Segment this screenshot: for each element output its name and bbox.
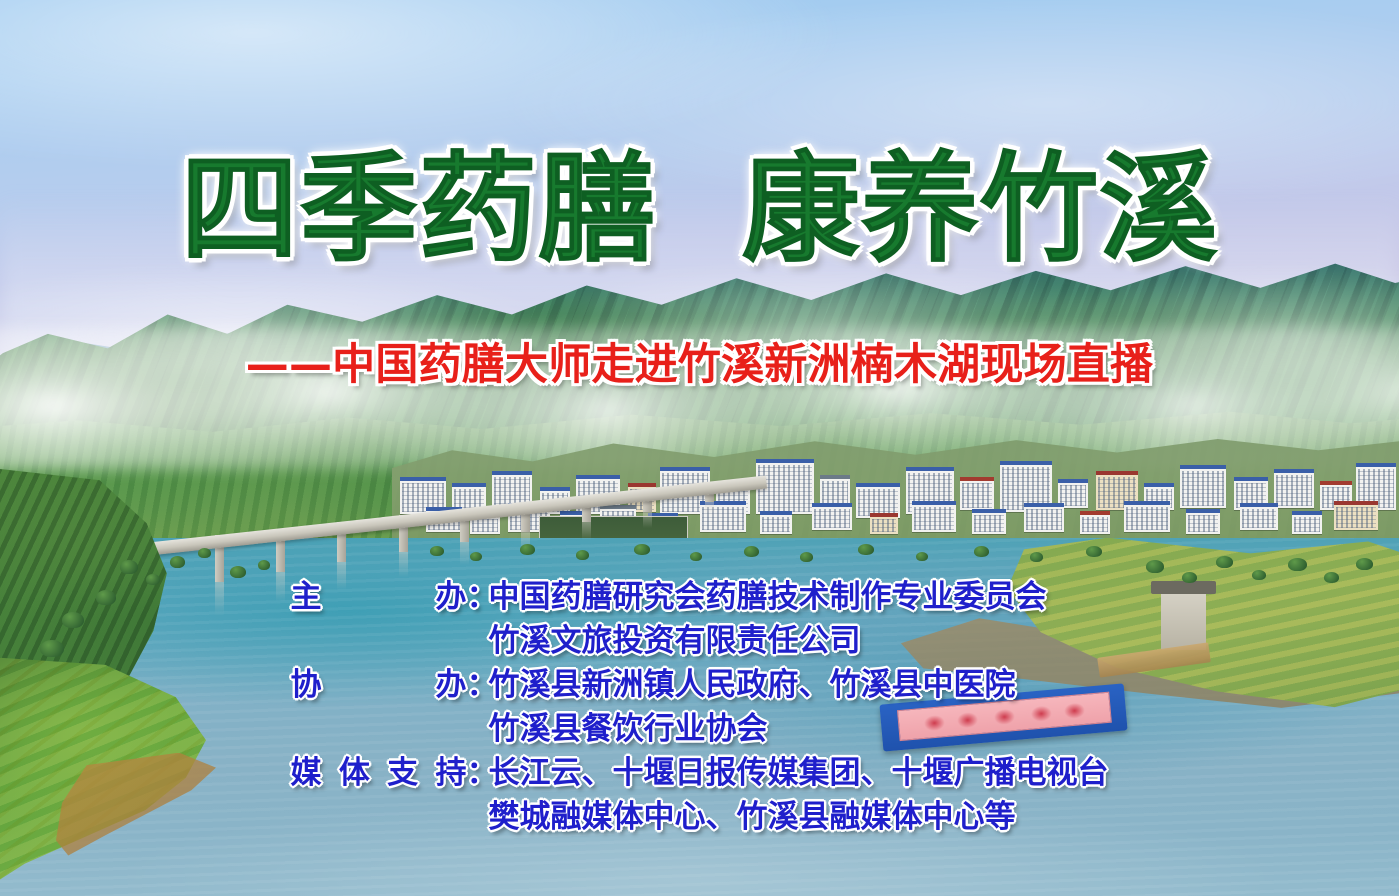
- credit-colon: ：: [467, 751, 489, 795]
- page-subtitle: ——中国药膳大师走进竹溪新洲楠木湖现场直播: [0, 330, 1399, 392]
- page-title: 四季药膳 康养竹溪: [0, 146, 1399, 273]
- credit-continuation: 竹溪县餐饮行业协会: [489, 707, 768, 751]
- credit-colon: ：: [467, 575, 489, 619]
- credit-value: 长江云、十堰日报传媒集团、十堰广播电视台: [489, 751, 1109, 795]
- credits-inner: 主办：中国药膳研究会药膳技术制作专业委员会竹溪文旅投资有限责任公司协办：竹溪县新…: [291, 575, 1109, 839]
- poster-canvas: 四季药膳 康养竹溪 ——中国药膳大师走进竹溪新洲楠木湖现场直播 主办：中国药膳研…: [0, 0, 1399, 896]
- credit-label: 主办: [291, 575, 467, 619]
- credit-continuation: 樊城融媒体中心、竹溪县融媒体中心等: [489, 795, 1016, 839]
- text-overlay: 四季药膳 康养竹溪 ——中国药膳大师走进竹溪新洲楠木湖现场直播 主办：中国药膳研…: [0, 0, 1399, 896]
- credits-block: 主办：中国药膳研究会药膳技术制作专业委员会竹溪文旅投资有限责任公司协办：竹溪县新…: [0, 575, 1399, 839]
- credit-row: 协办：竹溪县新洲镇人民政府、竹溪县中医院: [291, 663, 1016, 707]
- credit-row: 媒体支持：长江云、十堰日报传媒集团、十堰广播电视台: [291, 751, 1109, 795]
- credit-continuation: 竹溪文旅投资有限责任公司: [489, 619, 861, 663]
- credit-row: 主办：中国药膳研究会药膳技术制作专业委员会: [291, 575, 1047, 619]
- credit-value: 竹溪县新洲镇人民政府、竹溪县中医院: [489, 663, 1016, 707]
- credit-value: 中国药膳研究会药膳技术制作专业委员会: [489, 575, 1047, 619]
- credit-label: 媒体支持: [291, 751, 467, 795]
- credit-label: 协办: [291, 663, 467, 707]
- credit-colon: ：: [467, 663, 489, 707]
